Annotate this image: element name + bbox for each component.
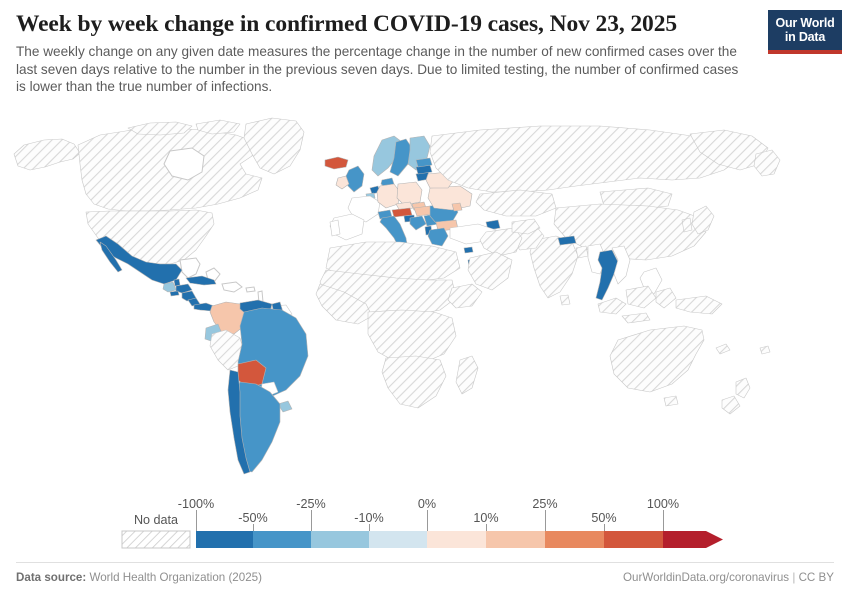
country-canada-arctic-1[interactable] xyxy=(128,122,192,135)
footer-links: OurWorldinData.org/coronavirus | CC BY xyxy=(623,571,834,584)
legend-svg[interactable]: No data -100% -50% -25% -10% 0% 10% 25% … xyxy=(0,496,850,554)
world-map-svg[interactable] xyxy=(0,112,850,497)
footer-site-link[interactable]: OurWorldinData.org/coronavirus xyxy=(623,571,789,584)
country-guatemala[interactable] xyxy=(163,282,176,292)
country-sri-lanka[interactable] xyxy=(560,295,570,305)
country-us-southeast[interactable] xyxy=(180,258,200,278)
chart-footer: Data source: World Health Organization (… xyxy=(0,562,850,586)
country-greece[interactable] xyxy=(428,228,448,246)
country-alaska[interactable] xyxy=(14,139,80,170)
country-cyprus[interactable] xyxy=(464,247,473,253)
footer-data-source: Data source: World Health Organization (… xyxy=(16,571,262,584)
region-oceania xyxy=(610,326,770,414)
country-australia[interactable] xyxy=(610,326,704,392)
country-saudi-arabia[interactable] xyxy=(468,252,512,290)
footer-separator: | xyxy=(792,571,795,584)
country-fiji[interactable] xyxy=(760,346,770,354)
legend-tick-label-5: 10% xyxy=(473,511,498,525)
country-new-zealand[interactable] xyxy=(736,378,750,398)
country-ukraine[interactable] xyxy=(428,186,472,210)
country-belize[interactable] xyxy=(174,279,180,286)
legend-no-data[interactable]: No data xyxy=(122,513,190,548)
country-puerto-rico[interactable] xyxy=(246,287,255,292)
country-ireland[interactable] xyxy=(336,176,349,189)
country-poland[interactable] xyxy=(397,182,422,205)
country-hispaniola[interactable] xyxy=(222,282,242,292)
country-kamchatka[interactable] xyxy=(754,150,780,176)
country-iceland[interactable] xyxy=(325,157,348,169)
legend-no-data-label: No data xyxy=(134,513,178,527)
owid-logo[interactable]: Our World in Data xyxy=(768,10,842,54)
legend-tick-label-0: -100% xyxy=(178,497,214,511)
legend-bin-3[interactable] xyxy=(369,531,427,548)
legend-tick-labels: -100% -50% -25% -10% 0% 10% 25% 50% 100% xyxy=(178,497,679,525)
legend-bin-7[interactable] xyxy=(604,531,663,548)
country-indonesia-sumatra[interactable] xyxy=(598,298,626,314)
country-croatia[interactable] xyxy=(410,216,426,230)
legend-tick-label-8: 100% xyxy=(647,497,679,511)
country-moldova[interactable] xyxy=(452,203,462,211)
country-indonesia-java[interactable] xyxy=(622,313,650,323)
country-papua-new-guinea[interactable] xyxy=(676,296,722,314)
legend-tick-label-7: 50% xyxy=(591,511,616,525)
country-korea[interactable] xyxy=(682,218,692,232)
legend-tick-label-2: -25% xyxy=(296,497,325,511)
world-map-container[interactable] xyxy=(0,112,850,497)
owid-logo-line2: in Data xyxy=(770,30,840,44)
legend-bin-8[interactable] xyxy=(663,531,723,548)
country-bangladesh[interactable] xyxy=(576,246,588,258)
region-asia xyxy=(430,126,780,323)
footer-data-source-label: Data source: xyxy=(16,571,86,584)
country-madagascar[interactable] xyxy=(456,356,478,394)
country-japan[interactable] xyxy=(692,206,714,234)
country-new-zealand-south[interactable] xyxy=(722,396,740,414)
region-latin-america xyxy=(96,236,308,474)
country-southern-africa[interactable] xyxy=(382,356,446,408)
country-greenland[interactable] xyxy=(244,118,304,174)
country-united-kingdom[interactable] xyxy=(346,166,364,192)
chart-subtitle: The weekly change on any given date meas… xyxy=(16,43,746,96)
legend-tick-label-3: -10% xyxy=(354,511,383,525)
legend-bin-6[interactable] xyxy=(545,531,604,548)
country-new-caledonia[interactable] xyxy=(716,344,730,354)
owid-logo-line1: Our World xyxy=(770,16,840,30)
page-title: Week by week change in confirmed COVID-1… xyxy=(16,10,756,38)
country-portugal[interactable] xyxy=(330,220,340,236)
footer-divider xyxy=(16,562,834,563)
region-africa xyxy=(316,242,482,408)
chart-header: Week by week change in confirmed COVID-1… xyxy=(16,10,756,96)
country-indonesia-sulawesi[interactable] xyxy=(656,288,676,308)
country-kazakhstan[interactable] xyxy=(476,190,556,216)
legend-bin-1[interactable] xyxy=(253,531,311,548)
legend-bin-2[interactable] xyxy=(311,531,369,548)
country-nepal[interactable] xyxy=(558,236,576,245)
footer-license[interactable]: CC BY xyxy=(799,571,834,584)
owid-logo-box: Our World in Data xyxy=(768,10,842,50)
legend-tick-label-1: -50% xyxy=(238,511,267,525)
legend-bin-5[interactable] xyxy=(486,531,545,548)
country-central-africa[interactable] xyxy=(368,310,456,364)
legend-bins[interactable] xyxy=(196,531,723,548)
legend-bin-4[interactable] xyxy=(427,531,486,548)
legend-bin-0[interactable] xyxy=(196,531,253,548)
legend-tick-label-6: 25% xyxy=(532,497,557,511)
footer-data-source-value: World Health Organization (2025) xyxy=(89,571,262,584)
country-el-salvador[interactable] xyxy=(170,291,179,296)
owid-logo-underline xyxy=(768,50,842,54)
country-horn-of-africa[interactable] xyxy=(448,284,482,308)
legend-no-data-swatch[interactable] xyxy=(122,531,190,548)
legend-tick-label-4: 0% xyxy=(418,497,436,511)
country-tasmania[interactable] xyxy=(664,396,678,406)
map-legend[interactable]: No data -100% -50% -25% -10% 0% 10% 25% … xyxy=(0,496,850,554)
